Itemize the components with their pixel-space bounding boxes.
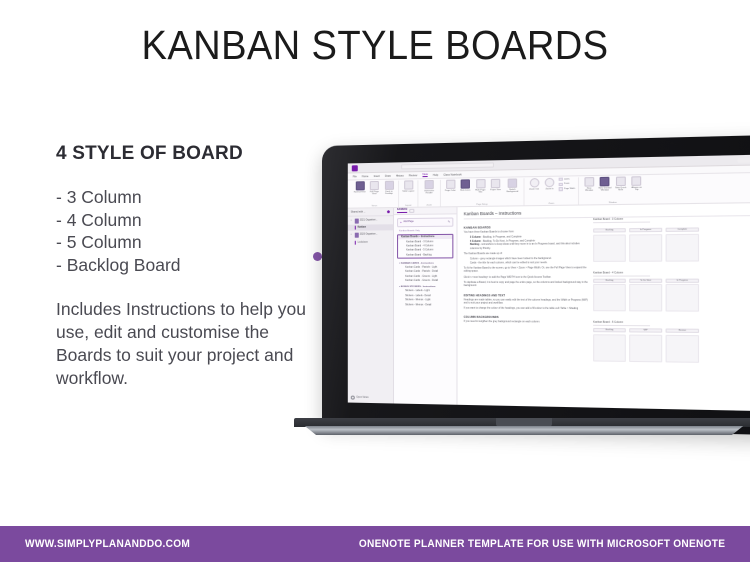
tab-view[interactable]: View <box>422 173 428 178</box>
footer-bar: WWW.SIMPLYPLANANDDO.COM ONENOTE PLANNER … <box>0 526 750 562</box>
note-intro: You have three Kanban Boards to choose f… <box>464 231 589 236</box>
ribbon-group-zoom: Zoom Out Zoom In 100% <box>525 177 580 205</box>
list-item: Backlog - somewhere to keep ideas until … <box>470 243 589 251</box>
column-body <box>666 233 700 261</box>
page-label: Stickers - Memos - Light <box>405 299 430 301</box>
section-color-bar <box>355 240 356 244</box>
page-color-button[interactable]: Page Color <box>444 180 456 193</box>
list-item[interactable]: Stickers - Memos - Detail <box>397 303 453 308</box>
note-paragraph: Click in <new heading> to add the Page W… <box>464 276 589 280</box>
zoom-button[interactable]: Zoom <box>559 182 575 186</box>
plus-icon: + <box>400 221 402 224</box>
list-item: - Backlog Board <box>56 254 306 277</box>
column-header: Backlog <box>593 228 626 233</box>
open-notebooks-label: Open Notes <box>356 397 368 399</box>
always-on-top-icon <box>632 176 642 186</box>
tab-history[interactable]: History <box>396 174 404 177</box>
laptop-lid: File Home Insert Draw History Review Vie… <box>322 135 750 435</box>
section-label: Lockdown <box>357 241 367 243</box>
page-label: Kanban Boards – Instructions <box>401 236 434 238</box>
bullet-term: 3 Column <box>470 237 481 239</box>
page-canvas[interactable]: Kanban Boards – Instructions KANBAN BOAR… <box>458 203 750 412</box>
board-type-list: 3 Column - Backlog, In Progress, and Com… <box>470 236 589 251</box>
board-column: Review <box>666 328 700 362</box>
page-list-pane: KANBAN + Add Page ✎ Kanban Boards Only <box>394 207 457 405</box>
zoom-icon <box>559 183 563 186</box>
new-docked-window-button[interactable]: New Docked Window <box>598 177 611 193</box>
board-column: Backlog <box>593 328 626 361</box>
column-body <box>629 334 662 362</box>
bullet-desc: - somewhere to keep ideas until they mov… <box>470 243 580 249</box>
page-width-icon <box>559 187 563 190</box>
page-group-label: BONUS STICKERS - Instructions <box>401 286 436 288</box>
page-label: Stickers - Labels - Light <box>405 291 430 293</box>
ribbon-group-layout: Table Layout Layout <box>399 180 418 207</box>
board-preview[interactable]: Kanban Board - 5 Column Backlog WIP <box>593 321 750 363</box>
zoom-out-button[interactable]: Zoom Out <box>528 178 541 191</box>
pen-icon[interactable]: ✎ <box>448 220 451 224</box>
tab-home[interactable]: Home <box>362 175 369 178</box>
note-subheading: COLUMN BACKGROUNDS <box>464 316 589 320</box>
open-notebooks-button[interactable]: Open Notes <box>348 392 393 403</box>
column-body <box>593 284 626 311</box>
tab-insert[interactable]: Insert <box>374 174 380 177</box>
section-label: Kanban <box>357 227 365 229</box>
board-column: Backlog <box>593 228 626 261</box>
note-subheading: EDITING HEADINGS AND TEXT <box>464 294 589 297</box>
page-width-button[interactable]: Page Width <box>559 187 575 191</box>
immersive-reader-icon <box>425 180 434 189</box>
switch-background-icon <box>508 178 517 187</box>
add-page-label: Add Page <box>403 221 413 223</box>
page-title: KANBAN STYLE BOARDS <box>26 22 724 69</box>
board-title: Kanban Board - 4 Column <box>593 271 650 276</box>
page-label: Kanban Board - 5 Column <box>406 250 433 252</box>
normal-view-button[interactable]: Normal View <box>354 181 366 193</box>
column-body <box>593 234 626 262</box>
board-previews: Kanban Board - 3 Column Backlog <box>593 216 750 372</box>
new-window-button[interactable]: New Window <box>583 177 596 193</box>
note-paragraph: If you need to lengthen the grey backgro… <box>464 321 589 325</box>
board-columns: Backlog In Progress Comple <box>593 227 750 262</box>
chevron-right-icon: ▸ <box>351 234 353 236</box>
section-color-bar <box>355 226 356 230</box>
zoom-level-select[interactable]: 100% <box>559 177 575 181</box>
column-header: In Progress <box>629 228 662 233</box>
note-paragraph: Headings are made tables, so you can eas… <box>464 299 589 306</box>
tab-class-notebook[interactable]: Class Notebook <box>443 173 461 176</box>
board-column: Complete <box>666 227 700 261</box>
dock-desktop-button[interactable]: Dock to Desktop <box>383 181 395 196</box>
note-paragraph: The Kanban Boards are made up of: <box>464 252 589 256</box>
page-label: Stickers - Memos - Detail <box>405 304 431 306</box>
board-columns: Backlog To Do Next In Prog <box>593 278 750 312</box>
laptop-notch <box>496 418 551 427</box>
zoom-out-icon <box>529 178 539 188</box>
notebook-icon <box>354 218 358 223</box>
column-header: Backlog <box>593 278 626 282</box>
new-quick-note-button[interactable]: New Quick Note <box>614 176 627 192</box>
board-title: Kanban Board - 5 Column <box>593 321 650 327</box>
column-header: Backlog <box>593 328 626 332</box>
laptop-screen: File Home Insert Draw History Review Vie… <box>348 154 750 411</box>
page-label: Kanban Cards - Greens - Light <box>405 275 437 277</box>
copy-block: 4 STYLE OF BOARD - 3 Column - 4 Column -… <box>56 143 306 390</box>
tab-draw[interactable]: Draw <box>385 174 391 177</box>
notebook-nav: Shared with ... ▸ 2021 Organiser... Kanb <box>348 208 394 403</box>
board-parts-list: Column - grey rectangle images which hav… <box>470 258 589 266</box>
note-paragraph: To fit the Kanban Board to the screen, g… <box>464 267 589 274</box>
new-docked-icon <box>600 177 610 187</box>
sidebar-item-lockdown[interactable]: Lockdown <box>348 239 393 246</box>
column-body <box>593 334 626 362</box>
column-header: In Progress <box>666 278 700 282</box>
highlighted-pages-group: Kanban Boards – Instructions Kanban Boar… <box>397 233 453 259</box>
chevron-right-icon: ▸ <box>351 220 353 222</box>
page-label: Kanban Cards - Pastels - Light <box>405 266 437 268</box>
column-body <box>666 334 700 362</box>
bullet-term: Backlog <box>470 244 479 246</box>
paper-size-icon <box>491 179 500 188</box>
add-page-button[interactable]: + Add Page ✎ <box>397 217 453 227</box>
ribbon-group-tools: Immersive Reader Zoom <box>418 180 441 207</box>
ribbon-group-window: New Window New Docked Window New Quick N… <box>579 176 646 204</box>
onenote-logo-icon <box>352 165 358 171</box>
table-layout-icon <box>404 180 413 189</box>
switch-background-button[interactable]: Switch Background <box>504 178 520 193</box>
footer-website: WWW.SIMPLYPLANANDDO.COM <box>25 538 190 550</box>
list-item: - 4 Column <box>56 209 306 232</box>
column-body <box>629 284 662 312</box>
page-label: Kanban Board - 3 Column <box>406 241 433 243</box>
page-group-label: KANBAN CARDS - Instructions <box>401 262 434 264</box>
board-title: Kanban Board - 3 Column <box>593 217 650 223</box>
tab-review[interactable]: Review <box>409 174 417 177</box>
page-label: Kanban Cards - Pastels - Detail <box>405 271 438 273</box>
board-column: WIP <box>629 328 662 362</box>
tab-help[interactable]: Help <box>433 173 438 176</box>
notebook-nav-title: Shared with ... <box>351 211 366 213</box>
account-chip[interactable] <box>737 157 750 162</box>
board-columns: Backlog WIP Review <box>593 328 750 363</box>
bullet-desc: - Backlog, To Do Next, In Progress, and … <box>481 240 535 242</box>
dock-desktop-icon <box>384 181 393 190</box>
pin-icon[interactable] <box>387 210 390 213</box>
note-paragraph: If you want to change the colour of the … <box>464 308 589 312</box>
rule-lines-button[interactable]: Rule Lines <box>459 179 471 192</box>
board-preview[interactable]: Kanban Board - 4 Column Backlog To Do Ne… <box>593 270 750 311</box>
section-tab-row: KANBAN <box>394 207 456 215</box>
column-header: Review <box>666 328 700 333</box>
page-label: Kanban Cards - Greens - Detail <box>405 280 438 282</box>
list-item[interactable]: Kanban Board - Backlog <box>398 253 452 258</box>
board-preview[interactable]: Kanban Board - 3 Column Backlog <box>593 216 750 261</box>
magnifier-icon <box>559 178 563 181</box>
normal-view-icon <box>355 181 364 190</box>
column-body <box>666 284 700 312</box>
column-header: To Do Next <box>629 278 662 282</box>
full-page-view-button[interactable]: Full Page View <box>368 181 380 196</box>
note-paragraph: To duplicate a Board, it is best to copy… <box>464 282 589 289</box>
page-color-icon <box>446 180 455 189</box>
onenote-window: File Home Insert Draw History Review Vie… <box>348 154 750 411</box>
board-column: Backlog <box>593 278 626 311</box>
open-notebook-icon <box>351 396 355 400</box>
zoom-in-button[interactable]: Zoom In <box>543 178 556 191</box>
search-input[interactable] <box>401 162 494 169</box>
page-label: Kanban Board - Backlog <box>406 254 431 256</box>
full-page-icon <box>370 181 379 190</box>
new-quick-note-icon <box>616 176 626 186</box>
notebook-icon <box>354 233 358 238</box>
tab-file[interactable]: File <box>353 175 357 178</box>
immersive-reader-button[interactable]: Immersive Reader <box>421 180 436 195</box>
note-heading: KANBAN BOARDS <box>464 225 589 229</box>
zoom-in-icon <box>545 178 555 188</box>
list-item: - 3 Column <box>56 186 306 209</box>
new-window-icon <box>584 177 594 187</box>
bullet-desc: - Backlog, In Progress, and Complete <box>481 237 522 239</box>
footer-tagline: ONENOTE PLANNER TEMPLATE FOR USE WITH MI… <box>359 538 725 550</box>
table-layout-button[interactable]: Table Layout <box>402 180 414 192</box>
column-body <box>629 234 662 262</box>
rule-lines-icon <box>461 179 470 188</box>
board-column: In Progress <box>666 278 700 312</box>
board-style-list: - 3 Column - 4 Column - 5 Column - Backl… <box>56 186 306 276</box>
copy-heading: 4 STYLE OF BOARD <box>56 143 306 165</box>
add-section-button[interactable] <box>409 209 414 213</box>
column-header: Complete <box>666 227 700 232</box>
page-label: Kanban Board - 4 Column <box>406 245 433 247</box>
notebook-label: 2021 Organiser... <box>360 219 378 221</box>
board-column: To Do Next <box>629 278 662 311</box>
bullet-term: 4 Column <box>470 240 481 242</box>
notebook-label: 2020 Organiser... <box>360 234 378 236</box>
list-item: Cards - the title for each column, which… <box>470 262 589 266</box>
paper-size-button[interactable]: Paper Size <box>489 179 502 192</box>
ribbon-group-views: Normal View Full Page View Dock to Deskt… <box>351 181 399 208</box>
board-column: In Progress <box>629 228 662 262</box>
ribbon-group-page-setup: Page Color Rule Lines Hide Page Title <box>441 178 525 206</box>
section-tab-kanban[interactable]: KANBAN <box>397 209 407 213</box>
always-on-top-button[interactable]: Always on Top <box>630 176 643 192</box>
list-item: - 5 Column <box>56 231 306 254</box>
page-label: Stickers - Labels - Detail <box>405 295 430 297</box>
page-list: Kanban Boards Only Kanban Boards – Instr… <box>394 229 456 308</box>
slide-root: KANBAN STYLE BOARDS 4 STYLE OF BOARD - 3… <box>0 0 750 562</box>
laptop-base <box>294 418 750 435</box>
column-header: WIP <box>629 328 662 332</box>
hide-page-title-button[interactable]: Hide Page Title <box>474 179 487 194</box>
hide-title-icon <box>476 179 485 188</box>
onenote-body: Shared with ... ▸ 2021 Organiser... Kanb <box>348 203 750 412</box>
copy-paragraph: Includes Instructions to help you use, e… <box>56 298 306 390</box>
laptop-mockup: File Home Insert Draw History Review Vie… <box>322 146 750 446</box>
